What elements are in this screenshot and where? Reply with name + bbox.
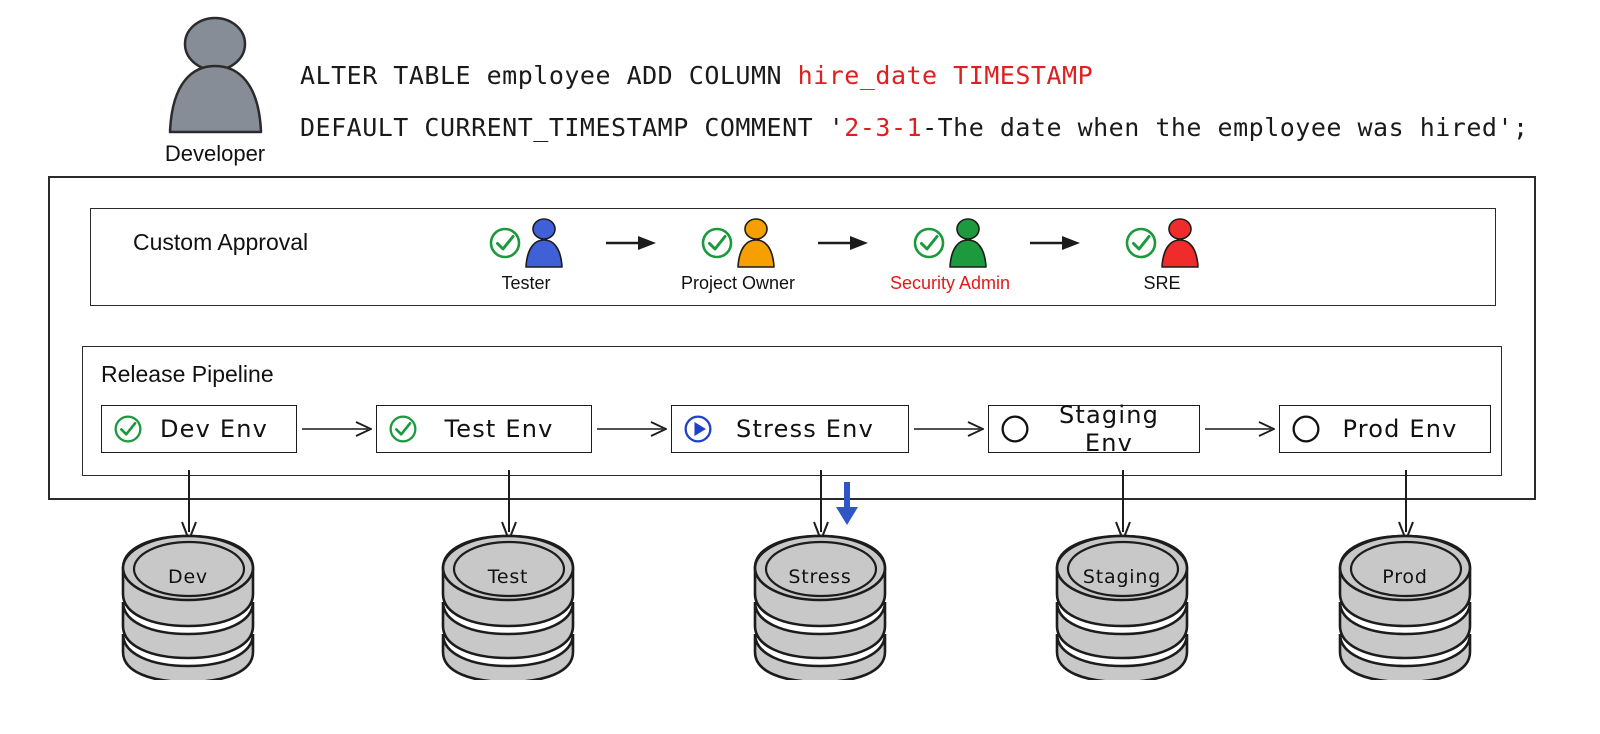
- stage-status-icon: [108, 414, 148, 444]
- arrow-right-icon: [597, 421, 667, 437]
- database-staging[interactable]: Staging: [1042, 530, 1202, 685]
- empty-circle-icon: [1291, 414, 1321, 444]
- sql-line-2: DEFAULT CURRENT_TIMESTAMP COMMENT '2-3-1…: [300, 102, 1480, 154]
- check-circle-icon: [700, 226, 734, 260]
- stage-label: Prod Env: [1326, 415, 1484, 443]
- developer-label: Developer: [150, 141, 280, 167]
- database-cylinder-icon: [1330, 530, 1480, 680]
- approver-sre[interactable]: SRE: [1087, 215, 1237, 294]
- check-circle-icon: [912, 226, 946, 260]
- approval-to-pipeline-arrow: [833, 482, 861, 531]
- database-test[interactable]: Test: [428, 530, 588, 685]
- person-icon: [524, 217, 564, 269]
- person-icon: [160, 14, 270, 134]
- approver-label: Tester: [451, 273, 601, 294]
- person-icon: [1160, 217, 1200, 269]
- stage-label: Test Env: [423, 415, 585, 443]
- custom-approval-panel: Custom Approval Tester Project Owner Sec…: [90, 208, 1496, 306]
- stage-label: Stress Env: [718, 415, 902, 443]
- workflow-container: Custom Approval Tester Project Owner Sec…: [48, 176, 1536, 500]
- sql-line-2-highlight: 2-3-1: [844, 113, 922, 142]
- database-cylinder-icon: [745, 530, 895, 680]
- approver-security-admin[interactable]: Security Admin: [875, 215, 1025, 294]
- pipeline-stage-dev-env[interactable]: Dev Env: [101, 405, 297, 453]
- check-circle-icon: [1124, 226, 1158, 260]
- arrow-right-icon: [1205, 421, 1275, 437]
- approver-glyphs: [663, 215, 813, 271]
- pipeline-stage-stress-env[interactable]: Stress Env: [671, 405, 909, 453]
- developer-actor: Developer: [150, 14, 280, 167]
- stage-label: Staging Env: [1035, 401, 1193, 457]
- approver-glyphs: [875, 215, 1025, 271]
- approver-flow-arrow: [601, 215, 663, 271]
- arrow-right-icon: [302, 421, 372, 437]
- pipeline-stage-test-env[interactable]: Test Env: [376, 405, 592, 453]
- database-cylinder-icon: [433, 530, 583, 680]
- stage-status-icon: [678, 414, 718, 444]
- stage-status-icon: [383, 414, 423, 444]
- check-circle-icon: [113, 414, 143, 444]
- approver-project-owner[interactable]: Project Owner: [663, 215, 813, 294]
- arrow-right-icon: [818, 234, 870, 252]
- stage-status-icon: [995, 414, 1035, 444]
- sql-line-1-highlight: hire_date TIMESTAMP: [798, 61, 1093, 90]
- database-stress[interactable]: Stress: [740, 530, 900, 685]
- approver-flow-arrow: [1025, 215, 1087, 271]
- release-pipeline-title: Release Pipeline: [101, 361, 274, 388]
- approver-glyphs: [1087, 215, 1237, 271]
- play-circle-icon: [683, 414, 713, 444]
- database-cylinder-icon: [113, 530, 263, 680]
- diagram-canvas: Developer ALTER TABLE employee ADD COLUM…: [0, 0, 1600, 734]
- arrow-right-icon: [914, 421, 984, 437]
- database-cylinder-icon: [1047, 530, 1197, 680]
- approver-flow-arrow: [813, 215, 875, 271]
- approver-glyphs: [451, 215, 601, 271]
- approver-label: Security Admin: [875, 273, 1025, 294]
- pipeline-flow-arrow: [1200, 421, 1279, 437]
- custom-approval-title: Custom Approval: [133, 229, 308, 256]
- sql-statement: ALTER TABLE employee ADD COLUMN hire_dat…: [300, 50, 1480, 154]
- person-icon: [948, 217, 988, 269]
- arrow-right-icon: [1030, 234, 1082, 252]
- sql-line-2-suffix: -The date when the employee was hired';: [922, 113, 1529, 142]
- approver-sequence: Tester Project Owner Security Admin SRE: [451, 215, 1451, 303]
- arrow-right-icon: [606, 234, 658, 252]
- pipeline-flow-arrow: [297, 421, 376, 437]
- pipeline-stage-staging-env[interactable]: Staging Env: [988, 405, 1200, 453]
- stage-label: Dev Env: [148, 415, 290, 443]
- database-dev[interactable]: Dev: [108, 530, 268, 685]
- approver-label: Project Owner: [663, 273, 813, 294]
- approver-tester[interactable]: Tester: [451, 215, 601, 294]
- stage-status-icon: [1286, 414, 1326, 444]
- sql-line-1-text: ALTER TABLE employee ADD COLUMN: [300, 61, 798, 90]
- check-circle-icon: [488, 226, 522, 260]
- pipeline-flow-arrow: [909, 421, 988, 437]
- database-prod[interactable]: Prod: [1325, 530, 1485, 685]
- release-pipeline-panel: Release Pipeline Dev Env Test Env Stress…: [82, 346, 1502, 476]
- sql-line-2-text: DEFAULT CURRENT_TIMESTAMP COMMENT ': [300, 113, 844, 142]
- sql-line-1: ALTER TABLE employee ADD COLUMN hire_dat…: [300, 50, 1480, 102]
- person-icon: [736, 217, 776, 269]
- pipeline-flow-arrow: [592, 421, 671, 437]
- check-circle-icon: [388, 414, 418, 444]
- approver-label: SRE: [1087, 273, 1237, 294]
- pipeline-stage-row: Dev Env Test Env Stress Env Staging Env …: [101, 401, 1491, 457]
- arrow-down-icon: [833, 482, 861, 526]
- pipeline-stage-prod-env[interactable]: Prod Env: [1279, 405, 1491, 453]
- empty-circle-icon: [1000, 414, 1030, 444]
